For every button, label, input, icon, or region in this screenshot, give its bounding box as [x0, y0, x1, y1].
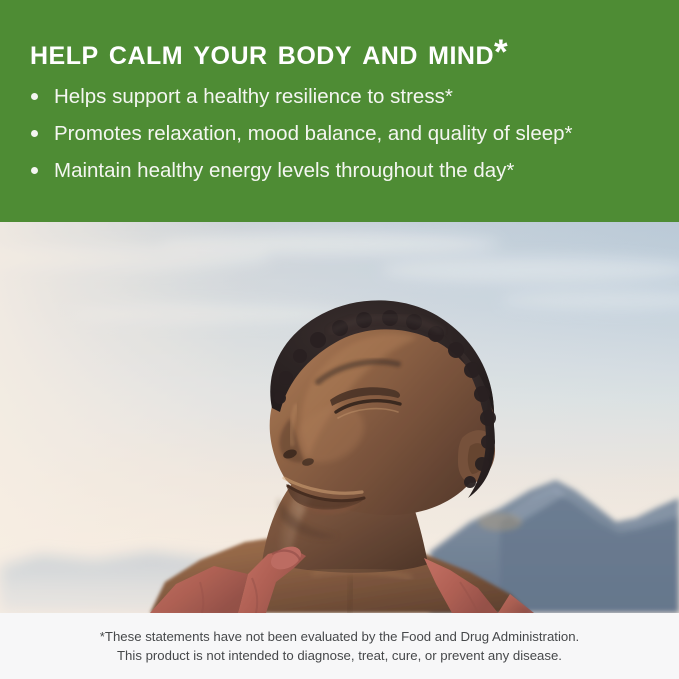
bullet-dot-icon — [31, 130, 38, 137]
disclaimer-line-1: *These statements have not been evaluate… — [0, 627, 679, 646]
list-item: Helps support a healthy resilience to st… — [28, 84, 668, 109]
list-item: Promotes relaxation, mood balance, and q… — [28, 121, 668, 146]
benefit-text: Maintain healthy energy levels throughou… — [54, 159, 514, 182]
disclaimer-line-2: This product is not intended to diagnose… — [0, 646, 679, 665]
list-item: Maintain healthy energy levels throughou… — [28, 158, 668, 183]
benefit-text: Helps support a healthy resilience to st… — [54, 85, 453, 108]
disclaimer-text: *These statements have not been evaluate… — [0, 627, 679, 665]
product-benefits-banner: Help Calm Your Body and Mind* Helps supp… — [0, 0, 679, 679]
bullet-dot-icon — [31, 93, 38, 100]
page-title: Help Calm Your Body and Mind* — [30, 33, 508, 73]
disclaimer-footer: *These statements have not been evaluate… — [0, 613, 679, 679]
photo-illustration — [0, 222, 679, 613]
green-header-panel: Help Calm Your Body and Mind* Helps supp… — [0, 0, 679, 222]
benefit-text: Promotes relaxation, mood balance, and q… — [54, 122, 573, 145]
benefits-list: Helps support a healthy resilience to st… — [28, 84, 668, 183]
lifestyle-photo — [0, 222, 679, 613]
bullet-dot-icon — [31, 167, 38, 174]
